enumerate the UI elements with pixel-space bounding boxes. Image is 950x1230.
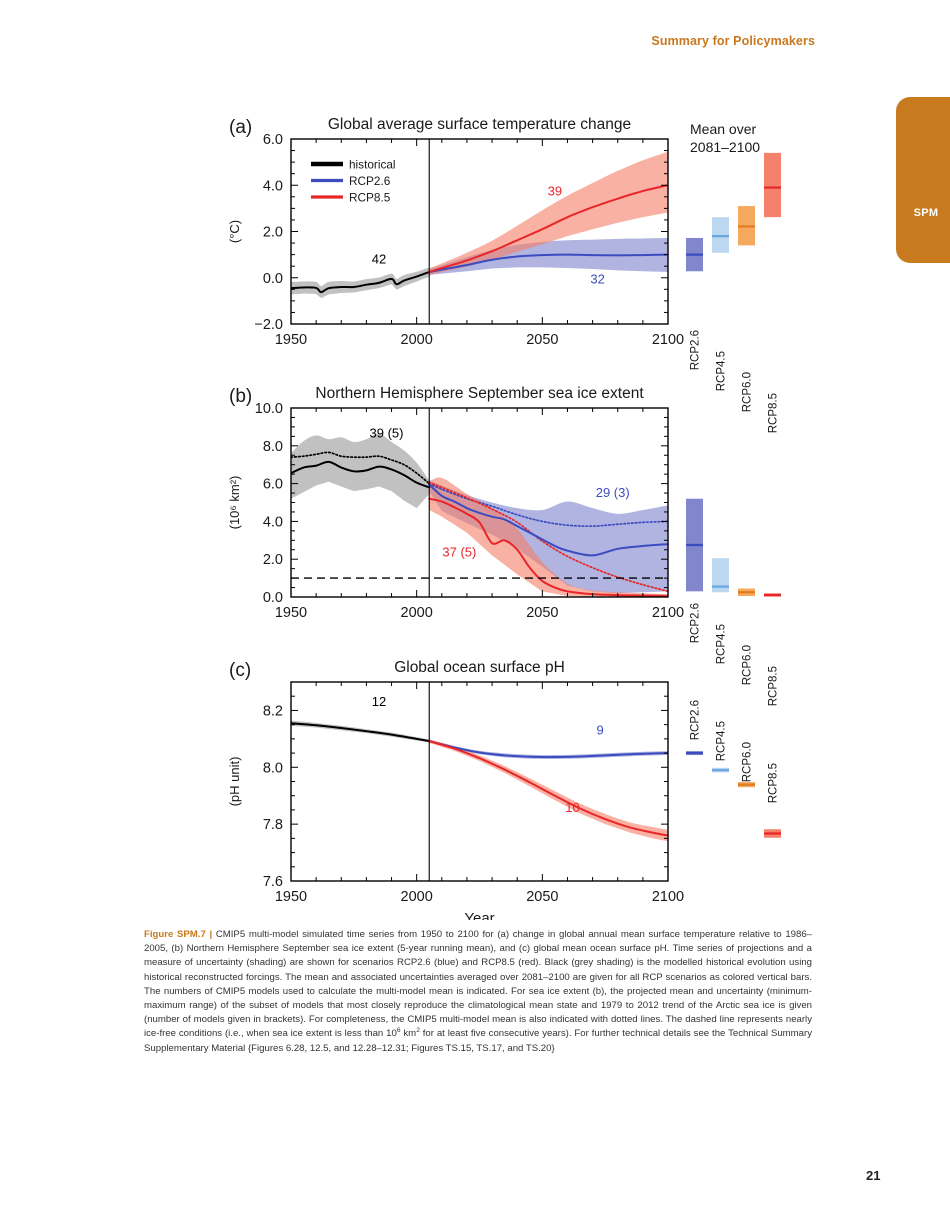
figure-caption: Figure SPM.7 | CMIP5 multi-model simulat… — [144, 928, 812, 1056]
panel-a-label: (a) — [229, 117, 252, 138]
panel-c: (c)Global ocean surface pH(pH unit)19502… — [227, 659, 781, 920]
panel-a-side-bar-RCP8.5 — [764, 153, 781, 217]
panel-c-side-bar-label-RCP8.5: RCP8.5 — [768, 763, 780, 803]
panel-c-ticks — [291, 682, 668, 881]
side-bars-header-line1: Mean over — [690, 121, 756, 137]
page-number: 21 — [866, 1168, 880, 1183]
panel-c-ylabel: (pH unit) — [227, 757, 242, 807]
panel-a-xtick-2100: 2100 — [652, 332, 684, 348]
figure-spm7: (a)Global average surface temperature ch… — [0, 0, 950, 920]
panel-a-annotation-2: 32 — [590, 272, 604, 287]
panel-b-ytick-4.0: 4.0 — [263, 514, 283, 530]
panel-a-legend: historicalRCP2.6RCP8.5 — [311, 158, 396, 205]
legend-label-RCP8.5: RCP8.5 — [349, 191, 391, 205]
caption-text-part2: km — [401, 1028, 417, 1039]
panel-a-frame — [291, 139, 668, 324]
panel-a-side-bar-label-RCP6.0: RCP6.0 — [742, 372, 754, 412]
panel-c-ytick-8.0: 8.0 — [263, 760, 283, 776]
panel-b-side-bar-label-RCP8.5: RCP8.5 — [768, 666, 780, 706]
panel-b-ytick-2.0: 2.0 — [263, 552, 283, 568]
panel-b-xtick-2050: 2050 — [526, 605, 558, 621]
panel-b-series — [291, 433, 668, 596]
panel-a-title: Global average surface temperature chang… — [328, 116, 631, 133]
caption-text-part1: CMIP5 multi-model simulated time series … — [144, 929, 812, 1039]
panel-a-band-historical_range — [291, 267, 429, 298]
panel-c-xtick-2000: 2000 — [401, 889, 433, 905]
panel-b-annotation-2: 29 (3) — [596, 485, 630, 500]
panel-a-ytick-2.0: 2.0 — [263, 225, 283, 241]
panel-b-side-bar-label-RCP6.0: RCP6.0 — [742, 645, 754, 685]
panel-b-side-bars: RCP2.6RCP4.5RCP6.0RCP8.5 — [686, 499, 781, 707]
panel-a-ytick-0.0: 0.0 — [263, 271, 283, 287]
panel-b-ytick-0.0: 0.0 — [263, 590, 283, 606]
panel-a-ylabel: (°C) — [227, 220, 242, 243]
panel-b-ylabel: (10⁶ km²) — [227, 476, 242, 530]
panel-a-ytick-4.0: 4.0 — [263, 178, 283, 194]
panel-a-side-bars: RCP2.6RCP4.5RCP6.0RCP8.5 — [686, 153, 781, 433]
panel-a-side-bar-label-RCP4.5: RCP4.5 — [716, 351, 728, 391]
panel-a-side-bar-label-RCP8.5: RCP8.5 — [768, 393, 780, 433]
panel-c-xtick-1950: 1950 — [275, 889, 307, 905]
panel-a-annotation-1: 39 — [548, 184, 562, 199]
panel-b-ytick-6.0: 6.0 — [263, 477, 283, 493]
panel-a-xtick-1950: 1950 — [275, 332, 307, 348]
caption-label: Figure SPM.7 | — [144, 929, 212, 940]
panel-c-side-bar-label-RCP4.5: RCP4.5 — [716, 721, 728, 761]
panel-b-xtick-2100: 2100 — [652, 605, 684, 621]
panel-c-frame — [291, 682, 668, 881]
panel-c-side-bar-label-RCP6.0: RCP6.0 — [742, 742, 754, 782]
panel-c-ytick-8.2: 8.2 — [263, 703, 283, 719]
panel-b-xtick-2000: 2000 — [401, 605, 433, 621]
panel-b-annotation-0: 39 (5) — [370, 425, 404, 440]
panel-c-side-bars: RCP2.6RCP4.5RCP6.0RCP8.5 — [686, 700, 781, 838]
panel-c-xtick-2100: 2100 — [652, 889, 684, 905]
legend-label-RCP2.6: RCP2.6 — [349, 174, 391, 188]
side-bars-header: Mean over2081–2100 — [690, 121, 760, 155]
panel-a-ticks — [291, 139, 668, 324]
page: Summary for Policymakers SPM (a)Global a… — [0, 0, 950, 1230]
panel-b-side-bar-label-RCP4.5: RCP4.5 — [716, 624, 728, 664]
panel-a-annotation-0: 42 — [372, 251, 386, 266]
side-bars-header-line2: 2081–2100 — [690, 139, 760, 155]
panel-b-ytick-10.0: 10.0 — [255, 401, 283, 417]
panel-c-annotation-2: 10 — [565, 800, 579, 815]
panel-c-label: (c) — [229, 660, 251, 681]
panel-a-side-bar-RCP4.5 — [712, 217, 729, 253]
panel-b-xtick-1950: 1950 — [275, 605, 307, 621]
panel-a-xtick-2000: 2000 — [401, 332, 433, 348]
panel-a-series — [291, 152, 668, 298]
legend-label-historical: historical — [349, 158, 396, 172]
panel-b-title: Northern Hemisphere September sea ice ex… — [315, 385, 644, 402]
panel-b-annotation-1: 37 (5) — [442, 544, 476, 559]
panel-c-annotation-0: 12 — [372, 694, 386, 709]
panel-c-ytick-7.8: 7.8 — [263, 817, 283, 833]
panel-c-xlabel: Year — [464, 910, 494, 920]
panel-a-side-bar-label-RCP2.6: RCP2.6 — [690, 330, 702, 370]
panel-c-annotation-1: 9 — [597, 723, 604, 738]
panel-a-xtick-2050: 2050 — [526, 332, 558, 348]
panel-a-ytick-6.0: 6.0 — [263, 132, 283, 148]
panel-b-ytick-8.0: 8.0 — [263, 439, 283, 455]
panel-b-label: (b) — [229, 386, 252, 407]
panel-c-xtick-2050: 2050 — [526, 889, 558, 905]
panel-c-title: Global ocean surface pH — [394, 659, 565, 676]
panel-c-series — [291, 721, 668, 842]
figure-svg: (a)Global average surface temperature ch… — [0, 0, 950, 920]
panel-a-ytick-−2.0: −2.0 — [254, 317, 283, 333]
panel-b-side-bar-label-RCP2.6: RCP2.6 — [690, 603, 702, 643]
panel-c-side-bar-label-RCP2.6: RCP2.6 — [690, 700, 702, 740]
panel-c-ytick-7.6: 7.6 — [263, 874, 283, 890]
